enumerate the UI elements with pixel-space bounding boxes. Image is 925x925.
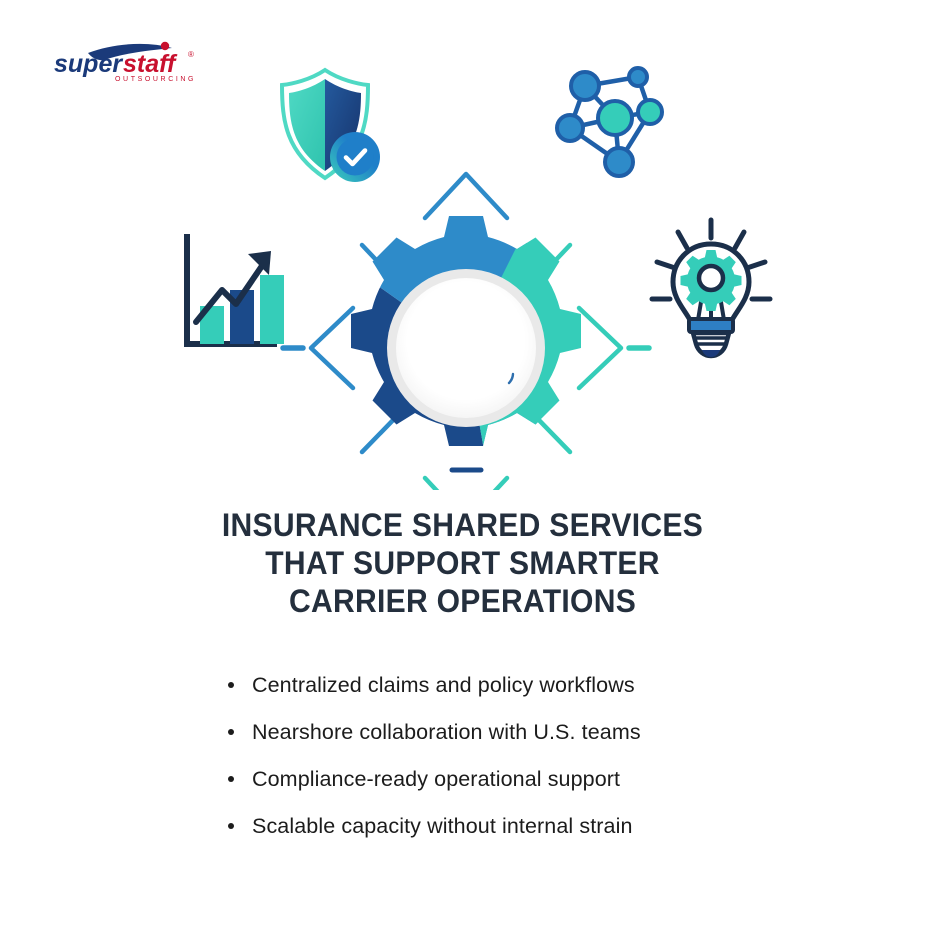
list-item-label: Compliance-ready operational support xyxy=(252,767,620,791)
hero-graphic xyxy=(0,40,925,490)
growth-bar-chart-icon xyxy=(187,237,284,344)
gear-icon xyxy=(351,216,581,446)
headline-line-3: CARRIER OPERATIONS xyxy=(28,582,898,620)
list-item-label: Scalable capacity without internal strai… xyxy=(252,814,633,838)
list-item-label: Centralized claims and policy workflows xyxy=(252,673,635,697)
chevron-left-connector xyxy=(283,308,353,388)
infographic-canvas: super staff ® OUTSOURCING xyxy=(0,0,925,925)
bullet-dot-icon xyxy=(228,776,234,782)
list-item: Scalable capacity without internal strai… xyxy=(222,813,842,839)
shield-check-icon xyxy=(282,70,380,182)
bullet-dot-icon xyxy=(228,682,234,688)
bullet-dot-icon xyxy=(228,823,234,829)
bullet-dot-icon xyxy=(228,729,234,735)
page-title: INSURANCE SHARED SERVICES THAT SUPPORT S… xyxy=(28,506,898,620)
list-item-label: Nearshore collaboration with U.S. teams xyxy=(252,720,641,744)
list-item: Nearshore collaboration with U.S. teams xyxy=(222,719,842,745)
list-item: Compliance-ready operational support xyxy=(222,766,842,792)
chevron-down-connector xyxy=(425,470,507,490)
list-item: Centralized claims and policy workflows xyxy=(222,672,842,698)
headline-line-1: INSURANCE SHARED SERVICES xyxy=(28,506,898,544)
headline-line-2: THAT SUPPORT SMARTER xyxy=(28,544,898,582)
lightbulb-gear-icon xyxy=(652,220,770,357)
chevron-right-connector xyxy=(579,308,649,388)
benefits-list: Centralized claims and policy workflows … xyxy=(222,672,842,860)
bulb-inner-gear-icon xyxy=(681,250,742,311)
network-nodes-icon xyxy=(557,68,662,176)
